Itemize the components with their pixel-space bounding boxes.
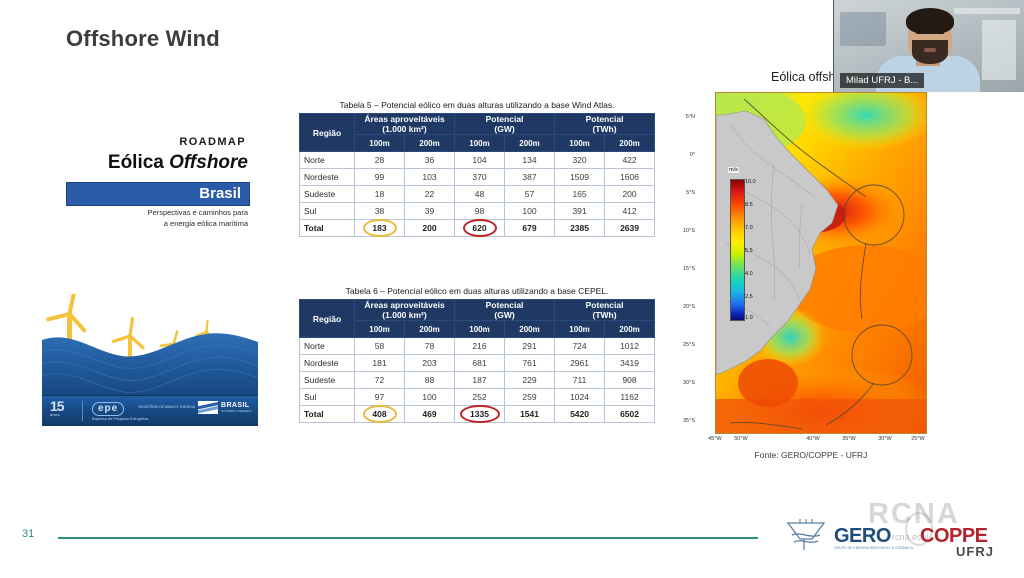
table6-r3-region: Sul	[300, 389, 355, 406]
cover-country-bar: Brasil	[66, 182, 250, 206]
government-sub: GOVERNO FEDERAL	[221, 409, 252, 413]
table6-r3-c2: 252	[455, 389, 505, 406]
table6-header-twh: Potencial (TWh)	[555, 300, 655, 321]
gero-logo-text: GERO	[834, 526, 891, 546]
table6-body: Norte 58 78 216 291 724 1012 Nordeste 18…	[300, 338, 655, 423]
cover-roadmap-label: ROADMAP	[42, 136, 246, 148]
table-row: Norte 58 78 216 291 724 1012	[300, 338, 655, 355]
map-y-tick-1: 0°	[690, 152, 695, 158]
table6-block: Tabela 6 – Potencial eólico em duas altu…	[299, 286, 655, 423]
table6-subheader-5: 200m	[605, 321, 655, 338]
page-title: Offshore Wind	[66, 26, 220, 52]
table6-subheader-4: 100m	[555, 321, 605, 338]
epe-logo-text: epe	[92, 402, 124, 416]
webcam-shelf	[954, 8, 1020, 14]
colorbar-tick-3: 5.5	[745, 248, 753, 254]
table6-header-region: Região	[300, 300, 355, 338]
table6-r1-c5: 3419	[605, 355, 655, 372]
table6-caption: Tabela 6 – Potencial eólico em duas altu…	[299, 286, 655, 296]
table6-subheader-3: 200m	[505, 321, 555, 338]
webcam-participant-name: Milad UFRJ - B...	[840, 73, 924, 88]
table6-r0-c0: 58	[355, 338, 405, 355]
table5-r0-c1: 36	[405, 152, 455, 169]
table6-r2-c3: 229	[505, 372, 555, 389]
sea-and-turbines-graphic	[42, 294, 258, 404]
webcam-video-tile[interactable]: Milad UFRJ - B...	[833, 0, 1024, 92]
table-row: Sul 38 39 98 100 391 412	[300, 203, 655, 220]
government-logo: MINISTÉRIO DE MINAS E ENERGIA BRASIL GOV…	[138, 401, 252, 414]
colorbar-unit-label: m/s	[728, 167, 739, 173]
table5-r2-c0: 18	[355, 186, 405, 203]
anniversary-logo: 15 anos	[50, 399, 64, 417]
table6-r2-c2: 187	[455, 372, 505, 389]
table5-total-c3: 679	[505, 220, 555, 237]
table5-r1-region: Nordeste	[300, 169, 355, 186]
map-y-axis: 5°N 0° 5°S 10°S 15°S 20°S 25°S 30°S 35°S	[675, 92, 695, 432]
table5-total-c0: 183	[355, 220, 405, 237]
table-row: Nordeste 181 203 681 761 2961 3419	[300, 355, 655, 372]
table6-r2-c5: 908	[605, 372, 655, 389]
map-x-axis: 50°W 45°W 40°W 35°W 30°W 25°W	[715, 433, 925, 447]
table5-r1-c1: 103	[405, 169, 455, 186]
table5-r3-c0: 38	[355, 203, 405, 220]
table6-total-c5: 6502	[605, 406, 655, 423]
table6-r1-region: Nordeste	[300, 355, 355, 372]
table5-r1-c3: 387	[505, 169, 555, 186]
table6-total-row: Total 408 469 1335 1541 5420 6502	[300, 406, 655, 423]
table6-subheader-1: 200m	[405, 321, 455, 338]
table5-r2-c5: 200	[605, 186, 655, 203]
map-y-tick-5: 20°S	[683, 304, 695, 310]
table6-subheader-0: 100m	[355, 321, 405, 338]
table5-r3-c1: 39	[405, 203, 455, 220]
map-x-tick-5: 25°W	[911, 436, 925, 442]
table6-total-c0-value: 408	[372, 409, 386, 419]
slide-canvas: Offshore Wind ROADMAP Eólica Offshore Br…	[0, 0, 1024, 578]
table6-r0-c1: 78	[405, 338, 455, 355]
table6-r0-c3: 291	[505, 338, 555, 355]
table6-total-c4: 5420	[555, 406, 605, 423]
cover-title: Eólica Offshore	[42, 152, 248, 174]
table6-r2-region: Sudeste	[300, 372, 355, 389]
colorbar-tick-5: 2.5	[745, 294, 753, 300]
table5-subheader-0: 100m	[355, 135, 405, 152]
footer-branding: GERO GRUPO DE ENERGIA RENOVÁVEL E OCEÂNI…	[778, 512, 1008, 564]
wind-speed-map-block: m/s 10.0 8.5 7.0 5.5 4.0 2.5 1.0 5°N 0° …	[697, 92, 925, 440]
table5-r3-c4: 391	[555, 203, 605, 220]
table5-subheader-4: 100m	[555, 135, 605, 152]
table5-caption: Tabela 5 – Potencial eólico em duas altu…	[299, 100, 655, 110]
table5-r1-c2: 370	[455, 169, 505, 186]
table5-r1-c5: 1606	[605, 169, 655, 186]
table5-r0-c3: 134	[505, 152, 555, 169]
table-row: Sudeste 72 88 187 229 711 908	[300, 372, 655, 389]
cover-subtitle: Perspectivas e caminhos para a energia e…	[42, 208, 248, 230]
table5-r2-c3: 57	[505, 186, 555, 203]
table5-total-row: Total 183 200 620 679 2385 2639	[300, 220, 655, 237]
table6-header-areas: Áreas aproveitáveis (1.000 km²)	[355, 300, 455, 321]
table5-r0-region: Norte	[300, 152, 355, 169]
table5-r0-c5: 422	[605, 152, 655, 169]
colorbar-tick-4: 4.0	[745, 271, 753, 277]
table5-subheader-3: 200m	[505, 135, 555, 152]
table5-block: Tabela 5 – Potencial eólico em duas altu…	[299, 100, 655, 237]
colorbar-tick-2: 7.0	[745, 225, 753, 231]
table6-group-header-row: Região Áreas aproveitáveis (1.000 km²) P…	[300, 300, 655, 321]
report-cover-image: ROADMAP Eólica Offshore Brasil Perspecti…	[42, 136, 258, 426]
map-y-tick-2: 5°S	[686, 190, 695, 196]
table5-r3-region: Sul	[300, 203, 355, 220]
cover-country-label: Brasil	[199, 185, 241, 202]
table5-r2-c4: 165	[555, 186, 605, 203]
table6-header-gw-label: Potencial	[455, 300, 554, 310]
table5-header-twh: Potencial (TWh)	[555, 114, 655, 135]
table6-r3-c0: 97	[355, 389, 405, 406]
table5-r3-c2: 98	[455, 203, 505, 220]
map-y-tick-3: 10°S	[683, 228, 695, 234]
colorbar-ticks: 10.0 8.5 7.0 5.5 4.0 2.5 1.0	[745, 175, 767, 323]
table5-total-c5: 2639	[605, 220, 655, 237]
table6-head: Região Áreas aproveitáveis (1.000 km²) P…	[300, 300, 655, 338]
webcam-participant-hair	[906, 8, 954, 34]
webcam-door	[982, 20, 1016, 80]
table5-group-header-row: Região Áreas aproveitáveis (1.000 km²) P…	[300, 114, 655, 135]
table5-body: Norte 28 36 104 134 320 422 Nordeste 99 …	[300, 152, 655, 237]
table6-header-gw: Potencial (GW)	[455, 300, 555, 321]
coppe-logo-text: COPPE	[920, 526, 988, 546]
colorbar	[730, 179, 745, 321]
table5-head: Região Áreas aproveitáveis (1.000 km²) P…	[300, 114, 655, 152]
cover-title-italic: Offshore	[169, 152, 248, 173]
table5-total-c2-value: 620	[472, 223, 486, 233]
colorbar-tick-1: 8.5	[745, 202, 753, 208]
table5-r1-c0: 99	[355, 169, 405, 186]
cover-subtitle-line1: Perspectivas e caminhos para	[42, 208, 248, 219]
map-y-tick-0: 5°N	[686, 114, 695, 120]
table5-r2-c1: 22	[405, 186, 455, 203]
footer-rule	[58, 537, 758, 539]
table5-total-c2: 620	[455, 220, 505, 237]
table6-r1-c2: 681	[455, 355, 505, 372]
table5-total-c0-value: 183	[372, 223, 386, 233]
table6-subheader-2: 100m	[455, 321, 505, 338]
webcam-participant-eye-left	[916, 31, 923, 34]
map-x-tick-3: 35°W	[842, 436, 856, 442]
table6-total-c2: 1335	[455, 406, 505, 423]
table-row: Nordeste 99 103 370 387 1509 1606	[300, 169, 655, 186]
table6-total-label: Total	[300, 406, 355, 423]
map-source-caption: Fonte: GERO/COPPE - UFRJ	[697, 450, 925, 460]
table5-total-label: Total	[300, 220, 355, 237]
water-shape	[42, 333, 258, 404]
table5-total-c4: 2385	[555, 220, 605, 237]
table5-r2-c2: 48	[455, 186, 505, 203]
table-row: Sul 97 100 252 259 1024 1162	[300, 389, 655, 406]
table6-r3-c4: 1024	[555, 389, 605, 406]
table6-total-c2-value: 1335	[470, 409, 489, 419]
table5-subheader-5: 200m	[605, 135, 655, 152]
colorbar-tick-0: 10.0	[745, 179, 756, 185]
table6-r2-c4: 711	[555, 372, 605, 389]
table6-r2-c1: 88	[405, 372, 455, 389]
table6-header-gw-unit: (GW)	[455, 310, 554, 320]
webcam-participant-mouth	[924, 48, 936, 52]
cover-logo-bar: 15 anos epe Empresa de Pesquisa Energéti…	[42, 395, 258, 426]
map-x-tick-0: 50°W	[734, 436, 748, 442]
table6-r1-c0: 181	[355, 355, 405, 372]
map-y-tick-7: 30°S	[683, 380, 695, 386]
table5-r0-c4: 320	[555, 152, 605, 169]
table5-total-c1: 200	[405, 220, 455, 237]
map-y-tick-4: 15°S	[683, 266, 695, 272]
cover-subtitle-line2: a energia eólica marítima	[42, 219, 248, 230]
map-y-tick-8: 35°S	[683, 418, 695, 424]
table5-r2-region: Sudeste	[300, 186, 355, 203]
table5-header-areas-unit: (1.000 km²)	[355, 124, 454, 134]
map-x-tick-4: 30°W	[878, 436, 892, 442]
table5-header-region: Região	[300, 114, 355, 152]
map-x-tick-2: 40°W	[806, 436, 820, 442]
ministry-label: MINISTÉRIO DE MINAS E ENERGIA	[138, 405, 195, 409]
table6-header-areas-label: Áreas aproveitáveis	[355, 300, 454, 310]
table6-r3-c5: 1162	[605, 389, 655, 406]
table5-header-gw-unit: (GW)	[455, 124, 554, 134]
table5-header-twh-unit: (TWh)	[555, 124, 654, 134]
webcam-participant-beard	[912, 40, 948, 64]
table5-header-gw: Potencial (GW)	[455, 114, 555, 135]
page-number: 31	[22, 528, 34, 540]
table5-header-gw-label: Potencial	[455, 114, 554, 124]
table5-r3-c3: 100	[505, 203, 555, 220]
table6-r1-c4: 2961	[555, 355, 605, 372]
table5-r0-c0: 28	[355, 152, 405, 169]
table5-subheader-2: 100m	[455, 135, 505, 152]
table-row: Norte 28 36 104 134 320 422	[300, 152, 655, 169]
wind-speed-map: m/s 10.0 8.5 7.0 5.5 4.0 2.5 1.0	[715, 92, 927, 434]
brasil-flag-mark	[198, 401, 218, 414]
table6-r3-c1: 100	[405, 389, 455, 406]
colorbar-tick-6: 1.0	[745, 315, 753, 321]
table6-r0-c5: 1012	[605, 338, 655, 355]
table5-header-areas: Áreas aproveitáveis (1.000 km²)	[355, 114, 455, 135]
table6-r1-c1: 203	[405, 355, 455, 372]
ufrj-logo-text: UFRJ	[956, 545, 994, 558]
table6-header-twh-unit: (TWh)	[555, 310, 654, 320]
table5: Região Áreas aproveitáveis (1.000 km²) P…	[299, 113, 655, 237]
table6-total-c3: 1541	[505, 406, 555, 423]
table5-r1-c4: 1509	[555, 169, 605, 186]
table6-r3-c3: 259	[505, 389, 555, 406]
table5-subheader-1: 200m	[405, 135, 455, 152]
map-y-tick-6: 25°S	[683, 342, 695, 348]
table6-r2-c0: 72	[355, 372, 405, 389]
anniversary-number: 15	[50, 399, 64, 413]
table5-r3-c5: 412	[605, 203, 655, 220]
table5-r0-c2: 104	[455, 152, 505, 169]
table-row: Sudeste 18 22 48 57 165 200	[300, 186, 655, 203]
table6-total-c1: 469	[405, 406, 455, 423]
webcam-participant-eye-right	[937, 31, 944, 34]
epe-logo-sub: Empresa de Pesquisa Energética	[92, 418, 148, 421]
table6-header-twh-label: Potencial	[555, 300, 654, 310]
table5-header-twh-label: Potencial	[555, 114, 654, 124]
webcam-wall-art	[840, 12, 886, 46]
table6: Região Áreas aproveitáveis (1.000 km²) P…	[299, 299, 655, 423]
table5-header-areas-label: Áreas aproveitáveis	[355, 114, 454, 124]
table6-r0-c4: 724	[555, 338, 605, 355]
table6-header-areas-unit: (1.000 km²)	[355, 310, 454, 320]
cover-title-main: Eólica	[108, 152, 169, 173]
gero-wave-icon	[784, 519, 828, 553]
gero-logo-sub: GRUPO DE ENERGIA RENOVÁVEL E OCEÂNICA	[834, 546, 913, 550]
table6-r0-c2: 216	[455, 338, 505, 355]
government-label: BRASIL	[221, 402, 252, 409]
map-x-tick-1: 45°W	[708, 436, 722, 442]
table6-r1-c3: 761	[505, 355, 555, 372]
logo-divider	[82, 401, 83, 421]
table6-total-c0: 408	[355, 406, 405, 423]
table6-r0-region: Norte	[300, 338, 355, 355]
cover-illustration: 15 anos epe Empresa de Pesquisa Energéti…	[42, 251, 258, 426]
